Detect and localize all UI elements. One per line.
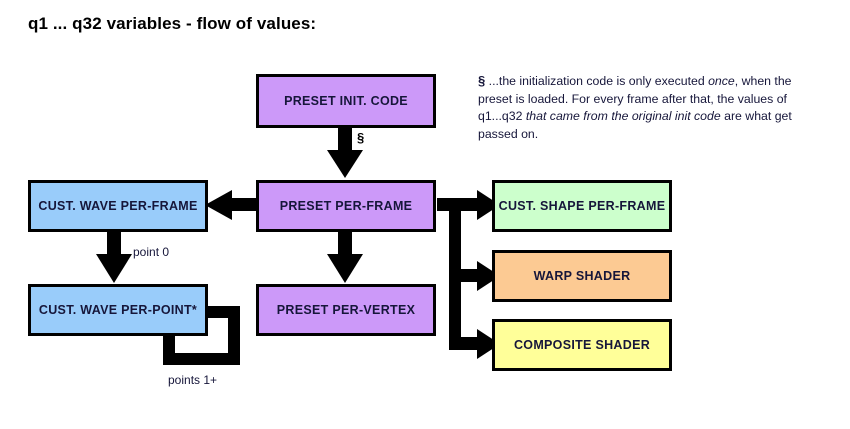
footnote-original-init-emphasis: the original init code	[611, 109, 720, 123]
node-cust-wave-per-point-label: CUST. WAVE PER-POINT*	[39, 303, 197, 317]
node-preset-per-vertex-label: PRESET PER-VERTEX	[277, 303, 415, 317]
node-composite-shader[interactable]: COMPOSITE SHADER	[492, 319, 672, 371]
footnote-came-from-emphasis: that came from	[526, 109, 608, 123]
edge-label-point-zero: point 0	[133, 245, 169, 259]
node-warp-shader[interactable]: WARP SHADER	[492, 250, 672, 302]
node-warp-shader-label: WARP SHADER	[534, 269, 631, 283]
node-preset-init-code-label: PRESET INIT. CODE	[284, 94, 408, 108]
diagram-canvas: q1 ... q32 variables - flow of values:	[0, 0, 850, 429]
edge-label-section-mark: §	[357, 130, 364, 145]
node-cust-wave-per-frame[interactable]: CUST. WAVE PER-FRAME	[28, 180, 208, 232]
arrow-per-frame-to-right-bus	[437, 190, 500, 359]
node-composite-shader-label: COMPOSITE SHADER	[514, 338, 650, 352]
arrow-cust-wave-frame-to-point	[96, 232, 132, 283]
node-cust-shape-per-frame-label: CUST. SHAPE PER-FRAME	[499, 199, 666, 213]
arrow-per-frame-to-per-vertex	[327, 232, 363, 283]
footnote-init-code: § ...the initialization code is only exe…	[478, 72, 800, 143]
footnote-once-emphasis: once	[708, 74, 735, 88]
arrow-per-frame-to-cust-wave-per-frame	[205, 190, 260, 220]
node-preset-init-code[interactable]: PRESET INIT. CODE	[256, 74, 436, 128]
node-cust-shape-per-frame[interactable]: CUST. SHAPE PER-FRAME	[492, 180, 672, 232]
node-preset-per-vertex[interactable]: PRESET PER-VERTEX	[256, 284, 436, 336]
footnote-section-mark: §	[478, 73, 485, 88]
footnote-line-1: ...the initialization code is only execu…	[489, 74, 705, 88]
edge-label-points-one-plus: points 1+	[168, 373, 217, 387]
node-cust-wave-per-point[interactable]: CUST. WAVE PER-POINT*	[28, 284, 208, 336]
node-preset-per-frame[interactable]: PRESET PER-FRAME	[256, 180, 436, 232]
node-preset-per-frame-label: PRESET PER-FRAME	[280, 199, 413, 213]
node-cust-wave-per-frame-label: CUST. WAVE PER-FRAME	[38, 199, 197, 213]
